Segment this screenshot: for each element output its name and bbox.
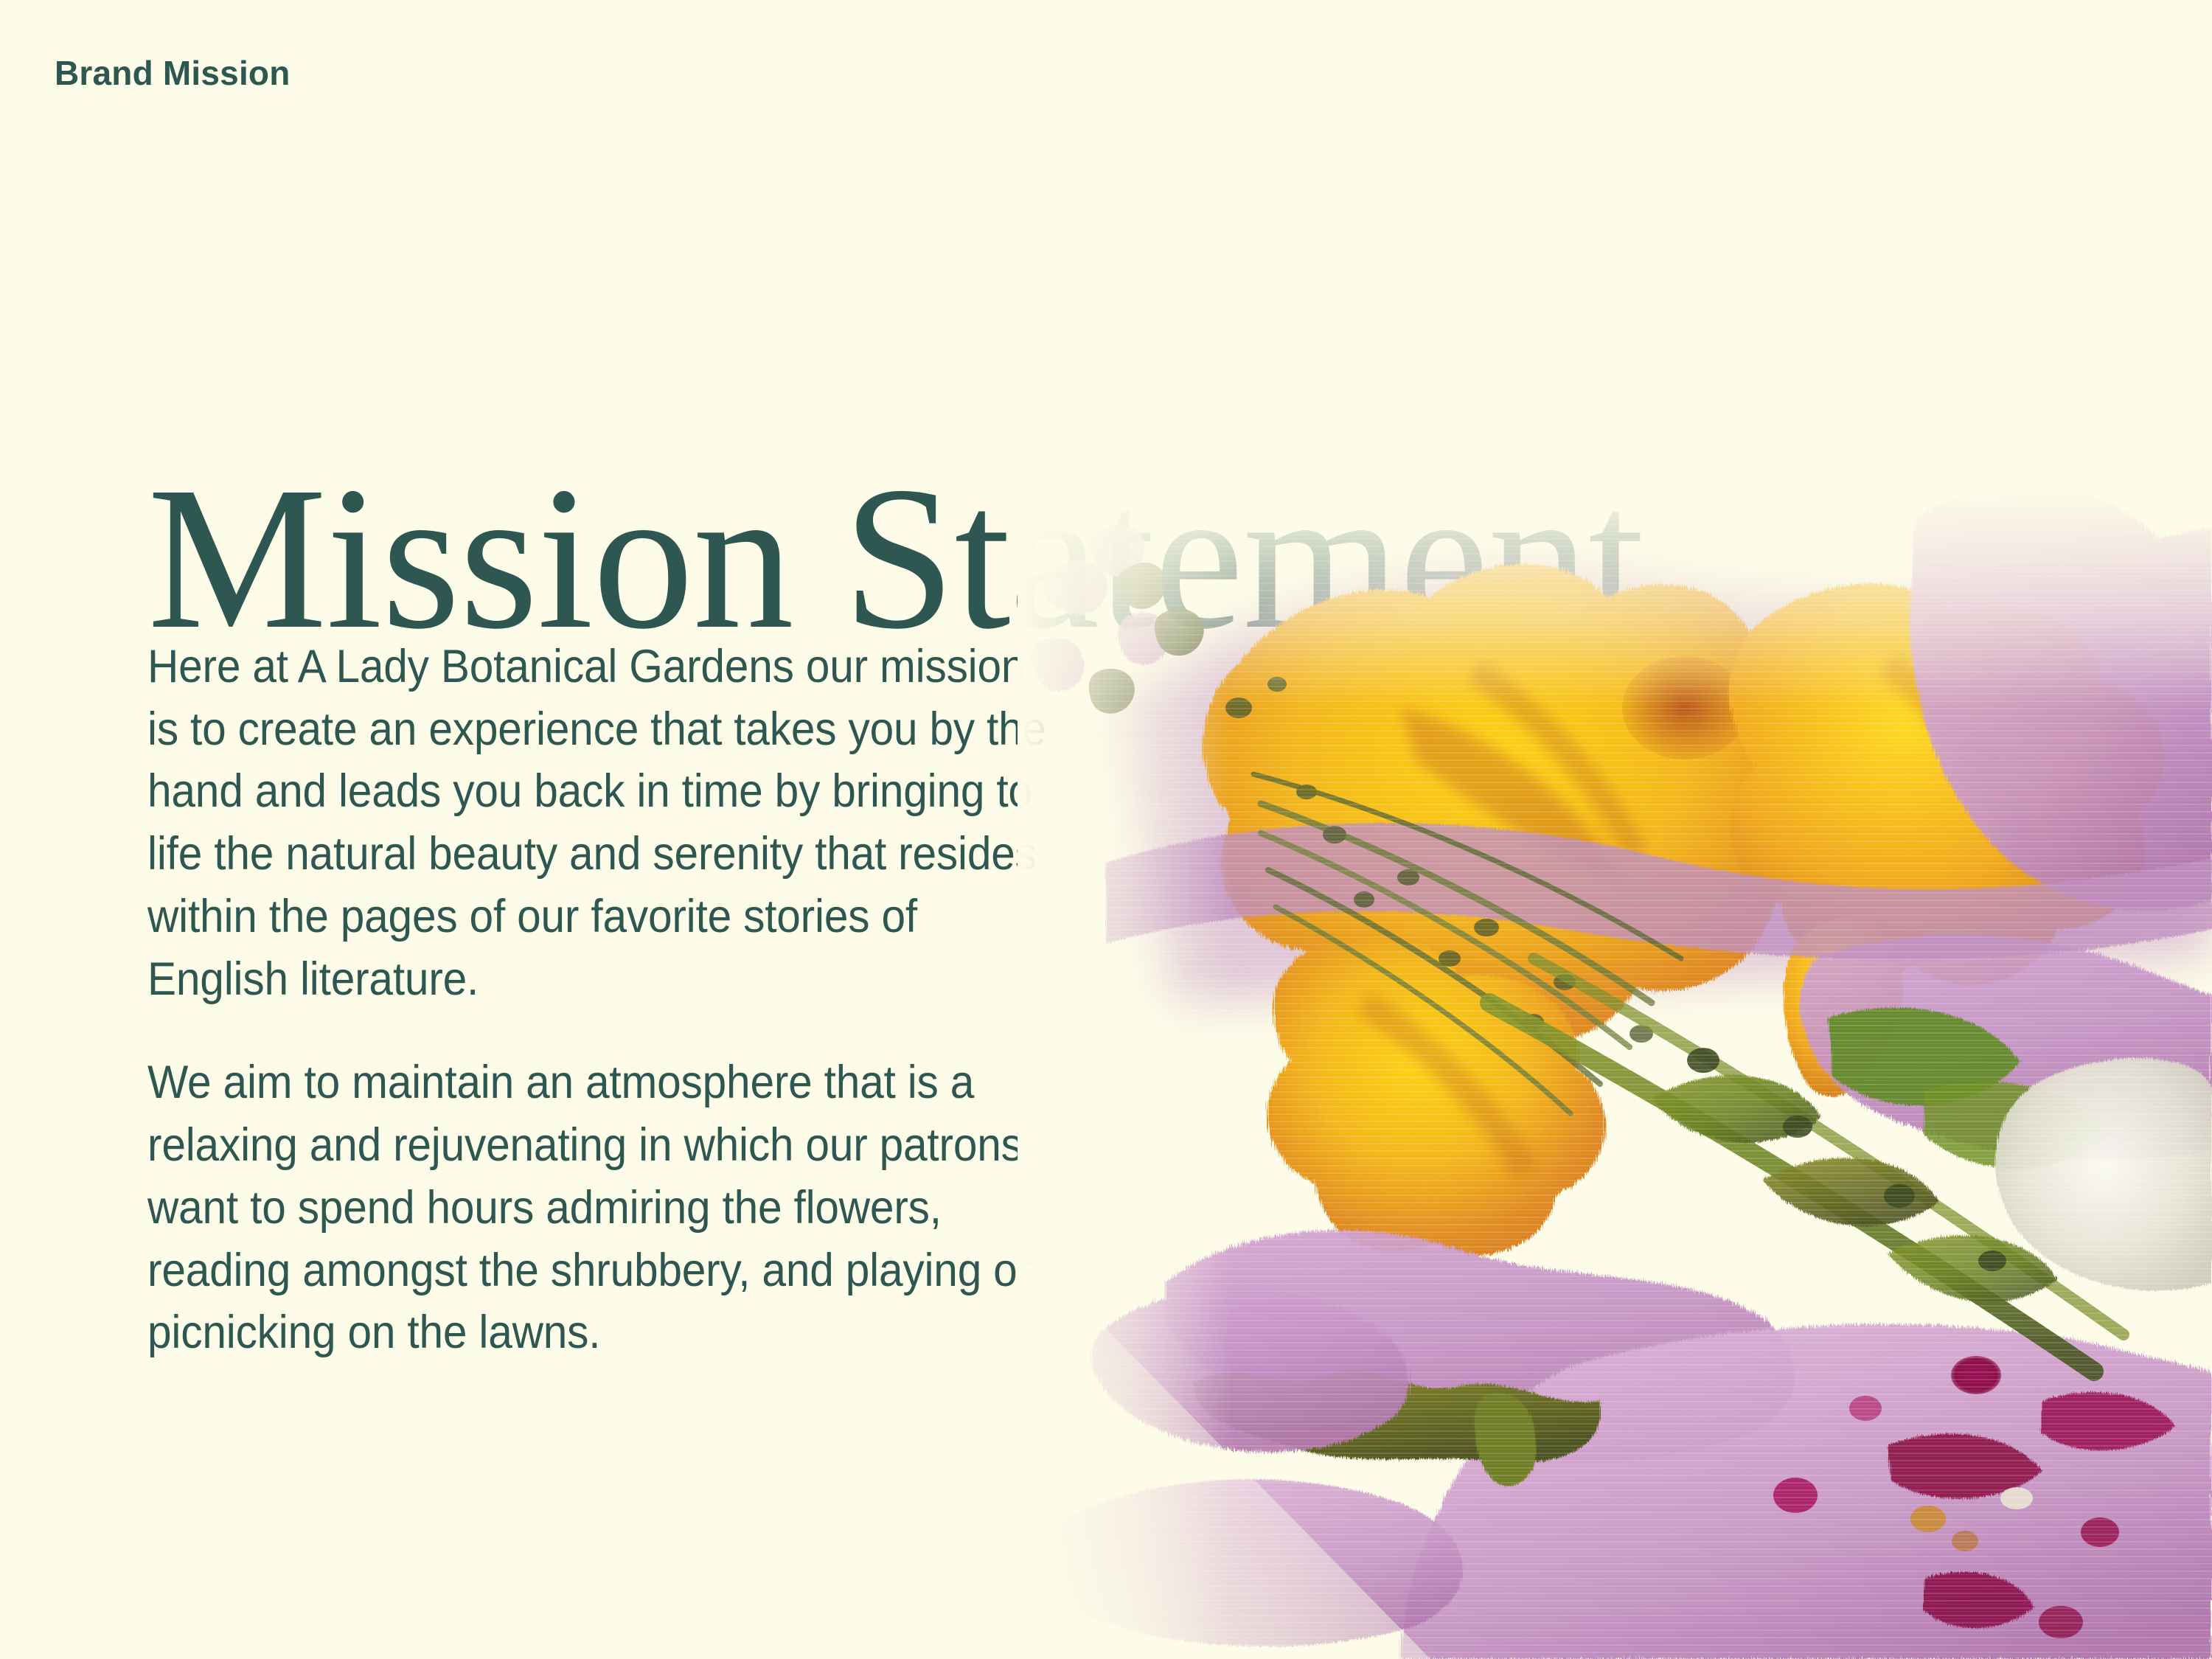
stamen-filaments — [1225, 677, 1681, 1113]
yellow-bud — [1784, 919, 1903, 1097]
yellow-bloom-secondary — [1730, 583, 2163, 985]
foliage — [1089, 563, 2124, 1486]
magenta-accents — [1773, 1356, 2175, 1638]
slide-canvas: Brand Mission Mission Statement Here at … — [0, 0, 2212, 1659]
page-kicker: Brand Mission — [55, 53, 291, 94]
page-title: Mission Statement — [147, 456, 1644, 661]
body-copy: Here at A Lady Botanical Gardens our mis… — [147, 636, 1128, 1364]
white-bloom — [1995, 1058, 2212, 1291]
yellow-bloom-lower — [1267, 935, 1605, 1254]
paragraph-1: Here at A Lady Botanical Gardens our mis… — [147, 636, 1060, 1010]
paragraph-2: We aim to maintain an atmosphere that is… — [147, 1051, 1060, 1364]
